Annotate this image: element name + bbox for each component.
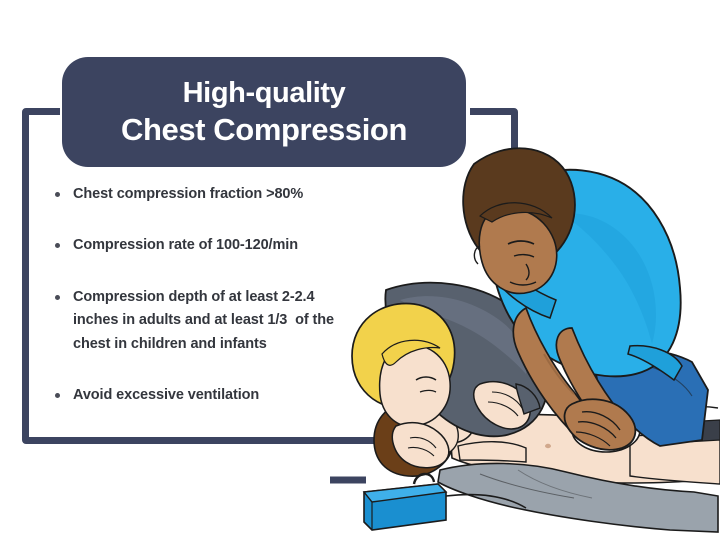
- aed-case: [364, 474, 526, 530]
- infographic-canvas: High-quality Chest Compression Chest com…: [0, 0, 720, 539]
- aed-pad: [572, 403, 718, 452]
- list-item: Compression rate of 100-120/min: [55, 234, 415, 257]
- bullet-dot-icon: [55, 393, 60, 398]
- bullet-dot-icon: [55, 192, 60, 197]
- list-item: Chest compression fraction >80%: [55, 183, 415, 206]
- guideline-bullet-list: Chest compression fraction >80% Compress…: [55, 183, 415, 436]
- bullet-dot-icon: [55, 243, 60, 248]
- bullet-dot-icon: [55, 295, 60, 300]
- title-line-2: Chest Compression: [121, 112, 407, 149]
- rescuer-jeans: [592, 349, 708, 446]
- title-banner: High-quality Chest Compression: [62, 57, 466, 167]
- list-item: Compression depth of at least 2-2.4 inch…: [55, 286, 415, 356]
- list-item: Avoid excessive ventilation: [55, 384, 415, 407]
- bullet-text-4: Avoid excessive ventilation: [73, 384, 259, 407]
- rescuer-arm-left: [513, 308, 598, 440]
- patient-trousers: [438, 463, 718, 532]
- bullet-text-3: Compression depth of at least 2-2.4 inch…: [73, 286, 334, 356]
- rescuer-interlocked-hands: [565, 399, 636, 449]
- title-line-1: High-quality: [183, 76, 346, 110]
- bullet-text-2: Compression rate of 100-120/min: [73, 234, 298, 257]
- bullet-text-1: Chest compression fraction >80%: [73, 183, 303, 206]
- rescuer-arm-right: [556, 328, 630, 440]
